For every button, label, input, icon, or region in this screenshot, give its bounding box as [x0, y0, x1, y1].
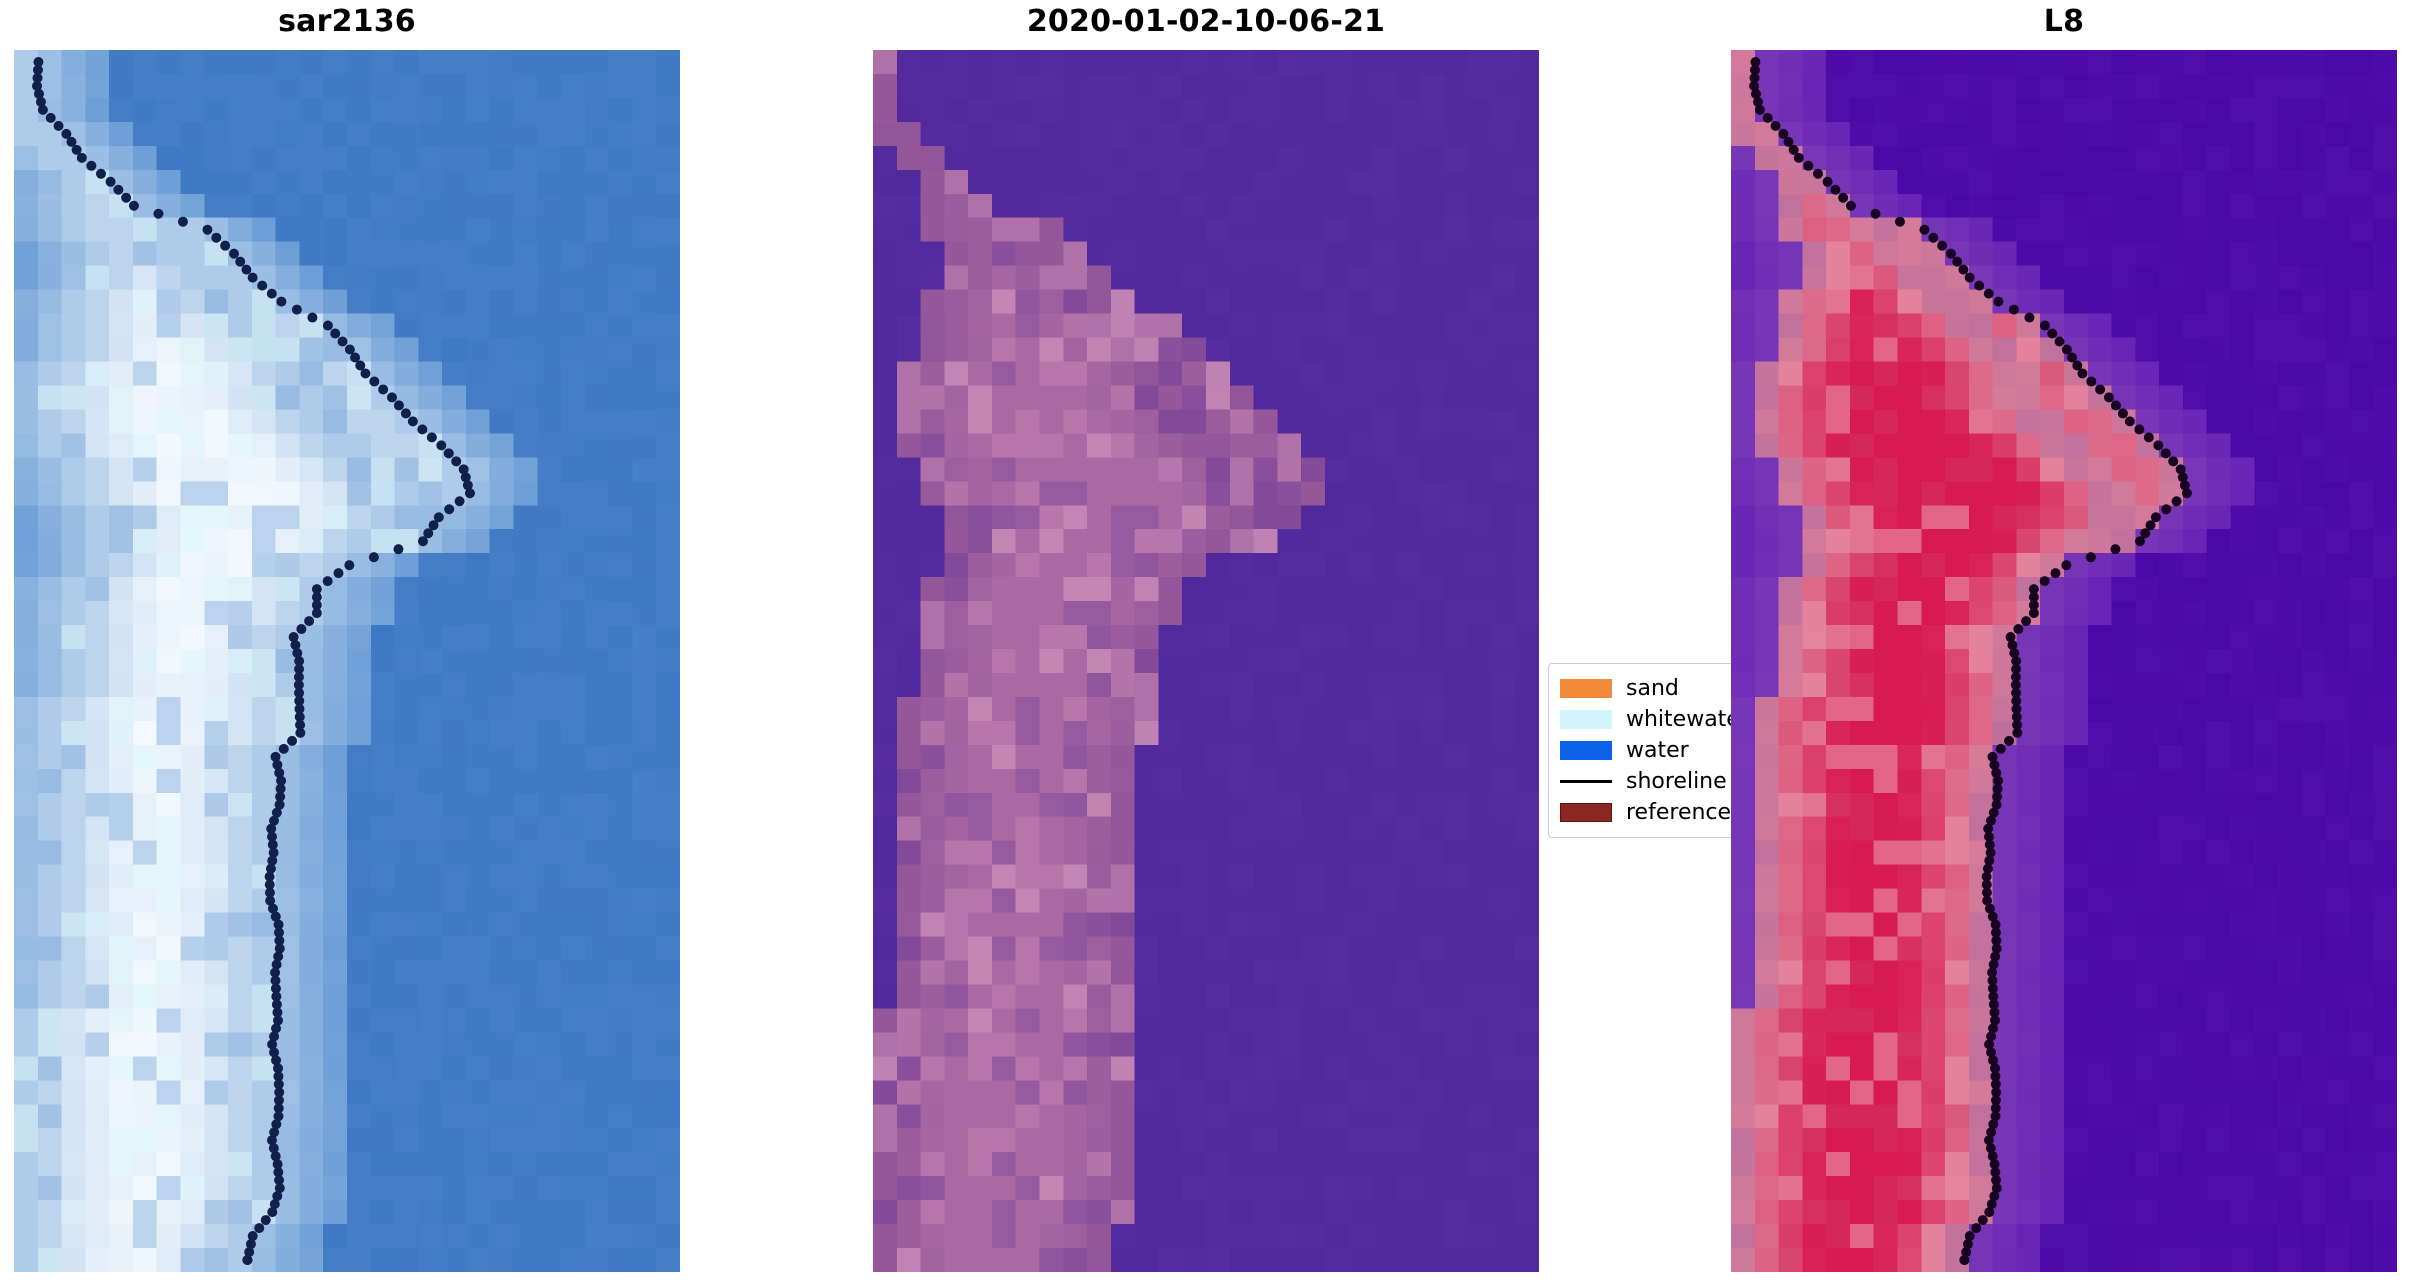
legend-item-whitewater[interactable]: whitewater — [1560, 704, 1731, 735]
legend-label-water: water — [1626, 740, 1689, 762]
panel-title-date: 2020-01-02-10-06-21 — [873, 4, 1539, 39]
panel-sar2136[interactable] — [14, 50, 680, 1272]
legend-label-whitewater: whitewater — [1626, 709, 1731, 731]
panel-title-sar2136: sar2136 — [14, 4, 680, 39]
sand-swatch-icon — [1560, 679, 1612, 698]
legend-item-water[interactable]: water — [1560, 735, 1731, 766]
panel-date[interactable] — [873, 50, 1539, 1272]
figure-canvas: sar2136 2020-01-02-10-06-21 sand whitewa… — [0, 0, 2410, 1283]
legend-item-sand[interactable]: sand — [1560, 673, 1731, 704]
water-swatch-icon — [1560, 741, 1612, 760]
legend-label-shoreline: shoreline — [1626, 771, 1727, 793]
raster-l8 — [1731, 50, 2397, 1272]
legend-box: sand whitewater water shoreline referenc… — [1548, 663, 1731, 838]
raster-sar2136 — [14, 50, 680, 1272]
shoreline-line-icon — [1560, 772, 1612, 791]
legend-label-sand: sand — [1626, 678, 1679, 700]
whitewater-swatch-icon — [1560, 710, 1612, 729]
legend-item-reference-shoreline[interactable]: reference shoreline — [1560, 797, 1731, 828]
legend-label-reference-shoreline: reference shoreline — [1626, 802, 1731, 824]
reference-shoreline-swatch-icon — [1560, 803, 1612, 822]
panel-title-l8: L8 — [1731, 4, 2397, 39]
raster-date — [873, 50, 1539, 1272]
legend[interactable]: sand whitewater water shoreline referenc… — [1540, 655, 1731, 840]
legend-item-shoreline[interactable]: shoreline — [1560, 766, 1731, 797]
panel-l8[interactable] — [1731, 50, 2397, 1272]
